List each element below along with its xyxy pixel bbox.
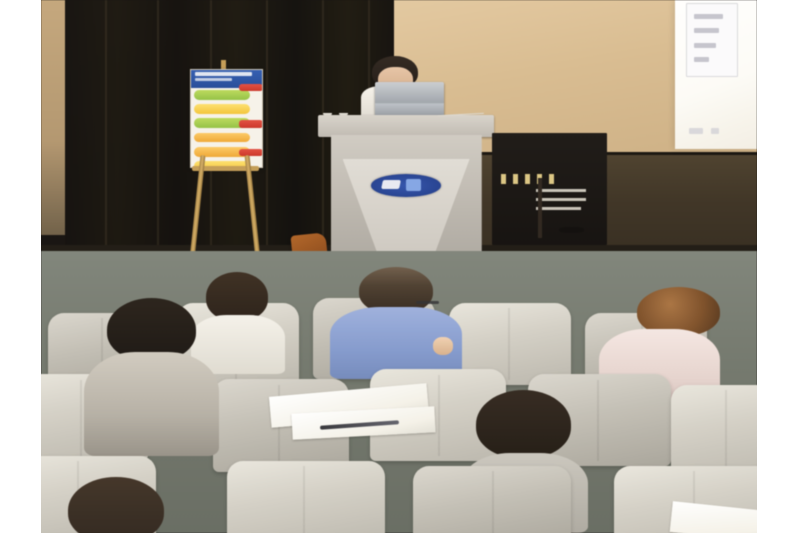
projection-screen [675, 0, 757, 149]
rack-pole [538, 178, 542, 238]
head [476, 390, 571, 459]
head [68, 477, 163, 533]
paper-cup [339, 113, 348, 115]
seat [413, 466, 571, 533]
poster-row [191, 89, 262, 102]
seat [671, 385, 757, 477]
podium-papers [438, 113, 484, 116]
hand [433, 337, 453, 355]
poster-row [191, 132, 262, 145]
poster-board [190, 69, 263, 168]
rack-indicator-lights [501, 174, 561, 184]
seminar-photograph [41, 0, 757, 533]
audience-member [55, 477, 184, 533]
easel [188, 69, 295, 256]
audience-member [84, 298, 227, 457]
paper-cup [323, 113, 332, 115]
poster-row [191, 103, 262, 116]
photo-canvas: Seminar lecture hall with presenter at p… [0, 0, 800, 533]
glasses [416, 301, 439, 304]
organization-logo [371, 174, 441, 197]
slide-footer-mark-left [689, 128, 702, 134]
seat [227, 461, 385, 533]
laptop [375, 82, 444, 118]
torso [84, 352, 219, 457]
slide-text-block [686, 3, 737, 77]
equipment-rack [492, 133, 607, 245]
audience-member [327, 267, 470, 380]
poster-row [191, 117, 262, 130]
podium-desktop [318, 115, 494, 137]
slide-footer-mark-right [711, 128, 719, 134]
floor-cable [559, 227, 584, 233]
audience-seating [41, 277, 757, 533]
